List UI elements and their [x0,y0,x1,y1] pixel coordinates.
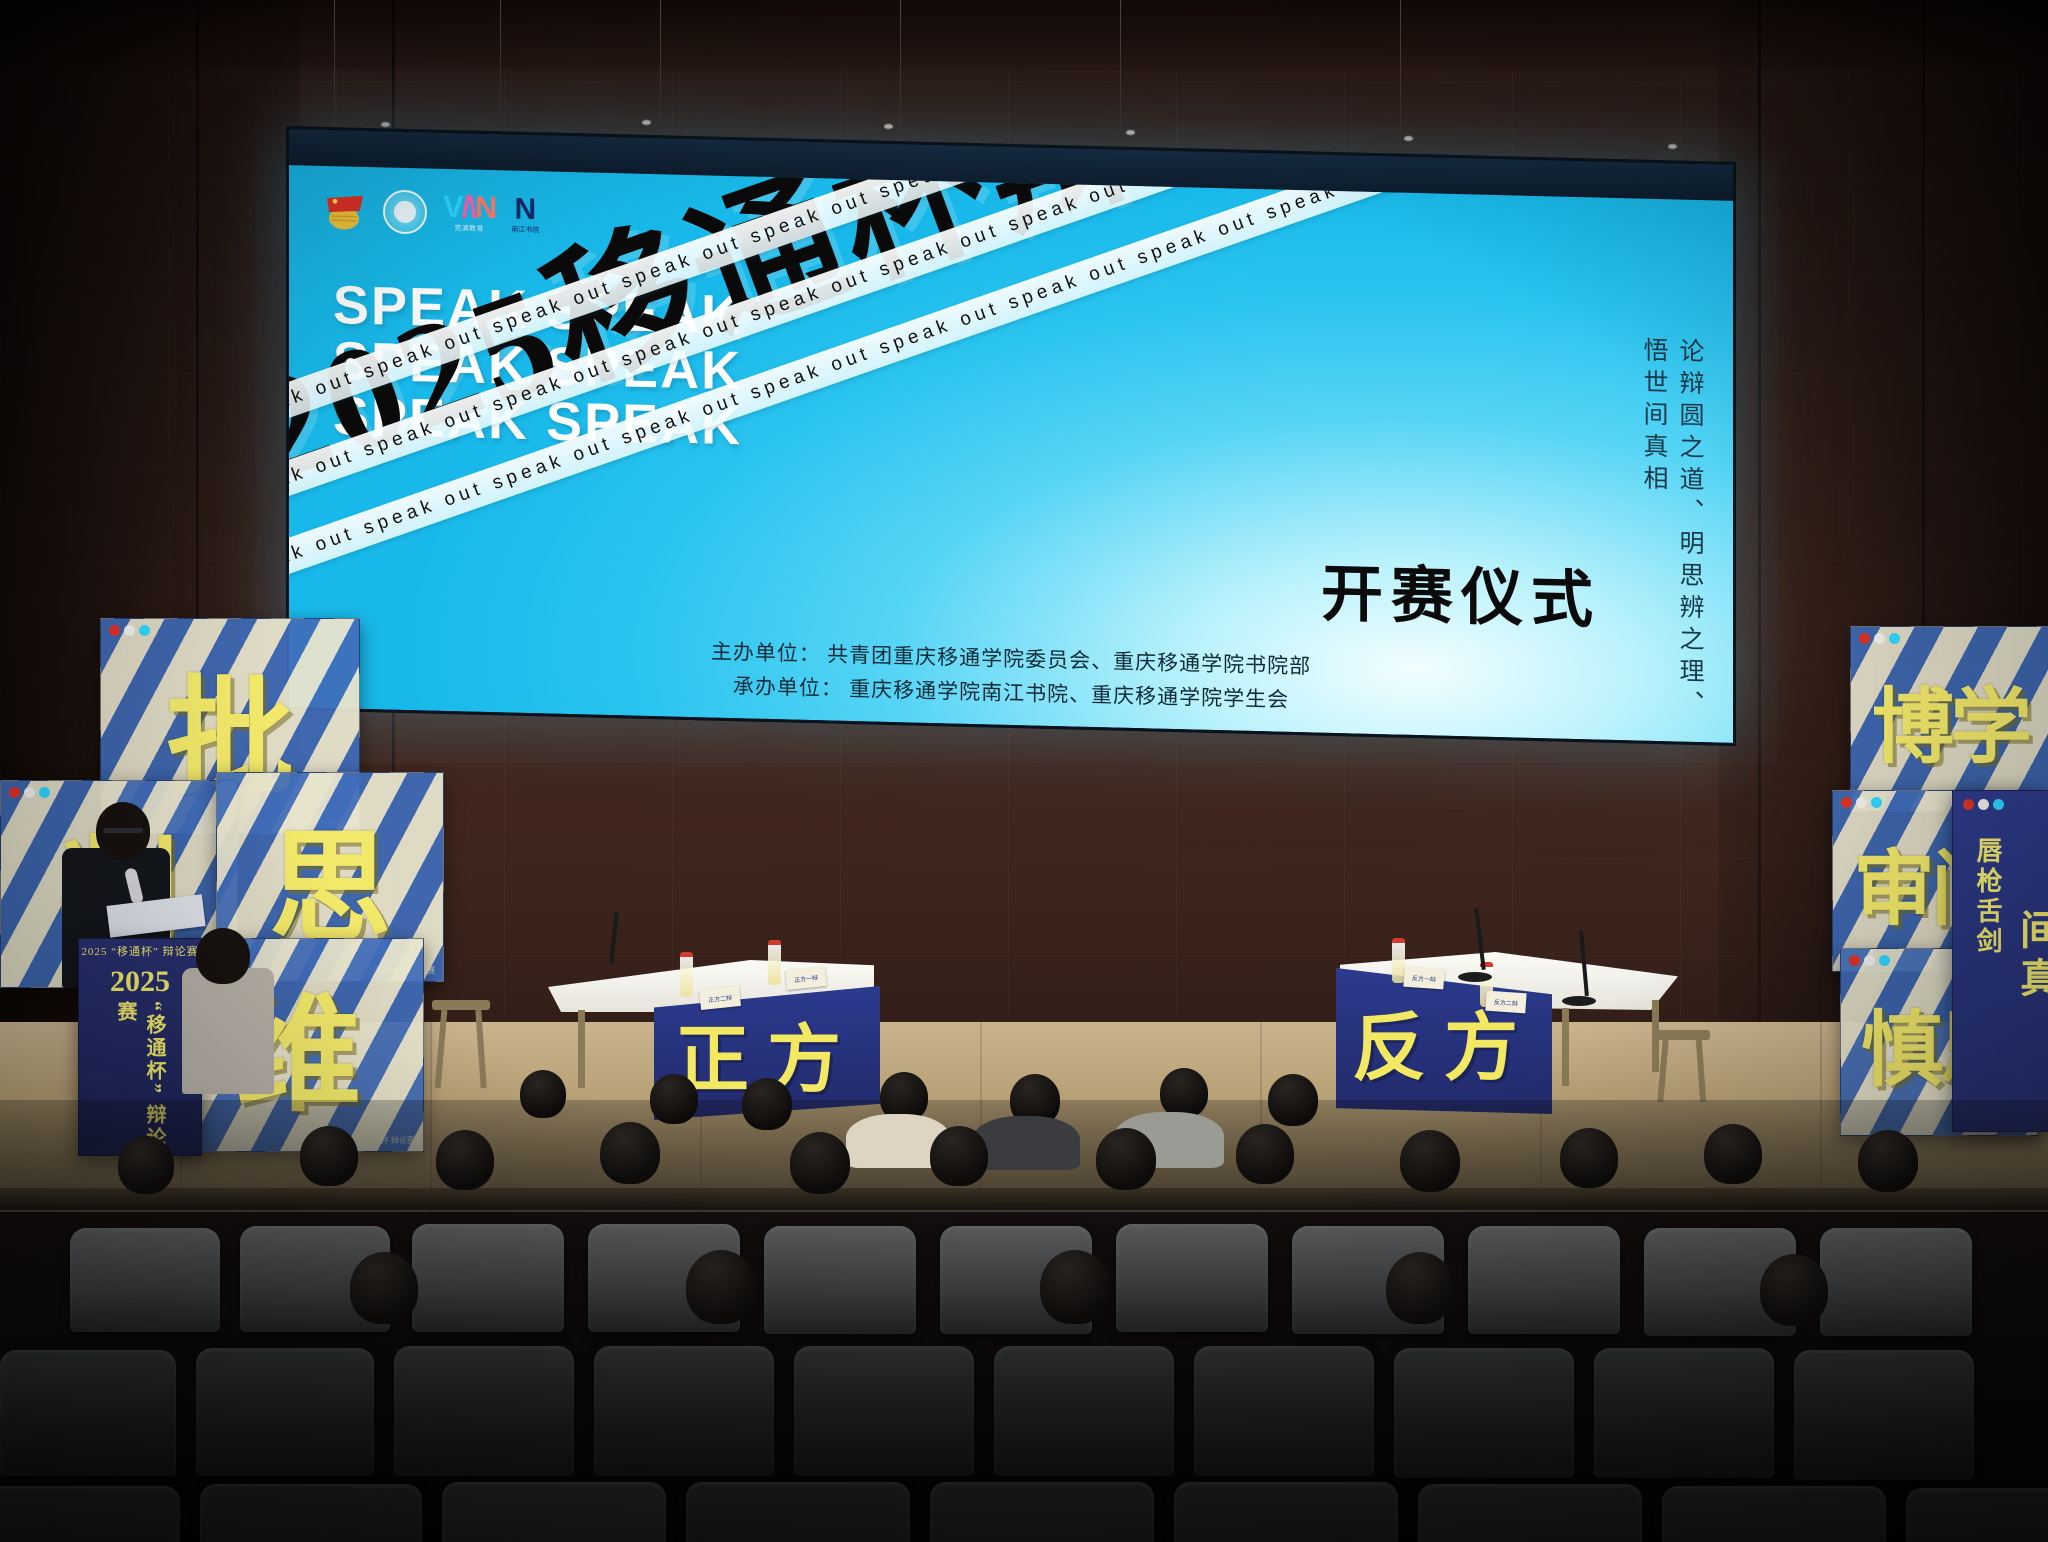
cloth-banner-title: 唇枪舌剑 [1969,837,2006,957]
audience-head [686,1250,756,1324]
ceremony-label: 开赛仪式 [1321,543,1601,640]
ceiling-wire [500,0,501,116]
audience-head [520,1070,566,1118]
seat[interactable] [70,1228,220,1332]
table-leg [578,1010,585,1088]
seat[interactable] [1906,1488,2048,1542]
ceiling-light [1668,144,1677,149]
seat[interactable] [412,1224,564,1332]
screen-content: V/\N 完满教育 N 南江书院 SPEAK SPEAK SPEAK SPEAK… [289,165,1733,743]
audience-head [790,1132,850,1194]
ceiling-wire [900,0,901,128]
ceiling-wire [1120,0,1121,132]
seat[interactable] [1662,1486,1886,1542]
university-seal-logo [383,189,427,234]
ceiling-light [1126,130,1135,135]
audience-head [118,1136,174,1194]
seat[interactable] [930,1482,1154,1542]
cloth-banner-subtitle: 争的是人间真 [2007,909,2048,1131]
auditorium-photo: V/\N 完满教育 N 南江书院 SPEAK SPEAK SPEAK SPEAK… [0,0,2048,1542]
seat[interactable] [1594,1348,1774,1478]
sponsor-credits: 主办单位： 共青团重庆移通学院委员会、重庆移通学院书院部 承办单位： 重庆移通学… [289,624,1733,729]
seat[interactable] [1418,1484,1642,1542]
seat[interactable] [686,1482,910,1542]
seat[interactable] [0,1350,176,1476]
audience-head [1400,1130,1460,1192]
audience-area [0,1100,2048,1542]
audience-head [1704,1124,1762,1184]
seat[interactable] [0,1486,180,1542]
audience-head [650,1074,698,1124]
ceiling-wire [1400,0,1401,140]
audience-head [1268,1074,1318,1126]
seat[interactable] [764,1226,916,1334]
seat[interactable] [1468,1226,1620,1334]
audience-head [930,1126,988,1186]
banner-char: 博学 [1872,660,2028,779]
seat[interactable] [1820,1228,1972,1336]
ceiling-light [1404,136,1413,141]
box-logo-row [9,787,50,798]
audience-head [1560,1128,1618,1188]
nameplate: 正方一辩 [785,966,827,990]
assistant-body [182,968,274,1094]
box-logo-row [1841,797,1882,808]
box-logo-row [1963,799,2004,810]
audience-head [1096,1128,1156,1190]
podium-top-text: 2025 “移通杯” 辩论赛 [79,943,201,959]
audience-head [1160,1068,1208,1118]
cloth-banner-right: 唇枪舌剑 争的是人间真 [1952,790,2048,1132]
box-logo-row [109,625,150,636]
nameplate: 反方二辩 [1485,991,1526,1014]
nameplate: 正方二辩 [699,986,741,1010]
audience-head [1236,1124,1294,1184]
table-leg [1562,1008,1569,1086]
seat[interactable] [1194,1346,1374,1476]
ccyl-flag-logo [323,190,367,231]
audience-head [742,1078,792,1130]
microphone-base [1562,996,1596,1006]
audience-head [600,1122,660,1184]
audience-head [350,1252,418,1324]
speaker-glasses [103,828,143,833]
stool-seat [1652,1030,1710,1040]
audience-head [1386,1252,1454,1324]
water-bottle [768,940,781,985]
nameplate: 反方一辩 [1403,967,1444,990]
box-logo-row [1859,633,1900,644]
seat[interactable] [442,1482,666,1542]
audience-head [1858,1130,1918,1192]
assistant-head [196,928,250,984]
ceiling-light [884,124,893,129]
stool-seat [432,1000,490,1010]
audience-shoulders [972,1116,1080,1170]
ceiling-wire [334,0,335,138]
banner-box-boxue: 博学 2025移通杯 辩论赛 [1850,626,2048,812]
seat[interactable] [1174,1482,1398,1542]
audience-head [300,1126,358,1186]
seat[interactable] [594,1346,774,1476]
seat[interactable] [394,1346,574,1476]
seat[interactable] [794,1346,974,1476]
seat[interactable] [1394,1348,1574,1478]
ceiling-light [381,122,390,127]
seat[interactable] [1794,1350,1974,1480]
microphone-base [1458,972,1492,982]
box-logo-row [1849,955,1890,966]
seat[interactable] [994,1346,1174,1476]
audience-head [436,1130,494,1190]
seat[interactable] [1116,1224,1268,1332]
ceiling-light [642,120,651,125]
audience-head [1040,1250,1110,1324]
audience-head [1760,1254,1828,1326]
seat[interactable] [200,1484,422,1542]
seat[interactable] [196,1348,374,1476]
water-bottle [680,952,693,997]
ceiling-wire [660,0,661,124]
led-screen: V/\N 完满教育 N 南江书院 SPEAK SPEAK SPEAK SPEAK… [286,126,1736,746]
